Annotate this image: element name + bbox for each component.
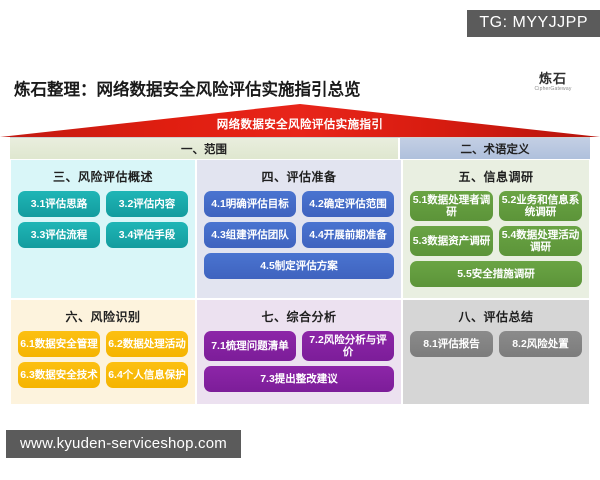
panel-title: 七、综合分析 (204, 308, 394, 325)
panel-overview: 三、风险评估概述3.1评估思路3.2评估内容3.3评估流程3.4评估手段 (10, 159, 196, 299)
panel-title: 六、风险识别 (18, 308, 188, 325)
red-chevron-banner: 网络数据安全风险评估实施指引 (0, 104, 600, 137)
chip-item[interactable]: 8.1评估报告 (410, 331, 493, 357)
section-header-terms: 二、术语定义 (400, 138, 590, 159)
chip-item[interactable]: 7.3提出整改建议 (204, 366, 394, 392)
chip-item[interactable]: 6.3数据安全技术 (18, 362, 100, 388)
brand-logo-en: CipherGateway (518, 87, 588, 92)
chip-item[interactable]: 4.4开展前期准备 (302, 222, 394, 248)
panel-title: 八、评估总结 (410, 308, 582, 325)
section-header-bars: 一、范围 二、术语定义 (10, 137, 590, 159)
chip-item[interactable]: 3.1评估思路 (18, 191, 100, 217)
panel-title: 三、风险评估概述 (18, 168, 188, 185)
panel-title: 五、信息调研 (410, 168, 582, 185)
chip-item[interactable]: 4.1明确评估目标 (204, 191, 296, 217)
brand-logo: 炼石 CipherGateway (518, 72, 588, 92)
chip-item[interactable]: 7.1梳理问题清单 (204, 331, 296, 361)
chip-item[interactable]: 5.1数据处理者调研 (410, 191, 493, 221)
chip-item[interactable]: 4.3组建评估团队 (204, 222, 296, 248)
chip-item[interactable]: 5.5安全措施调研 (410, 261, 582, 287)
panel-prep: 四、评估准备4.1明确评估目标4.2确定评估范围4.3组建评估团队4.4开展前期… (196, 159, 402, 299)
chip-item[interactable]: 6.2数据处理活动 (106, 331, 188, 357)
chip-item[interactable]: 8.2风险处置 (499, 331, 582, 357)
tg-handle-badge: TG: MYYJJPP (467, 10, 600, 37)
panel-chip-list: 7.1梳理问题清单7.2风险分析与评价7.3提出整改建议 (204, 331, 394, 392)
page-title: 炼石整理：网络数据安全风险评估实施指引总览 (14, 76, 361, 100)
chip-item[interactable]: 5.2业务和信息系统调研 (499, 191, 582, 221)
panel-analysis: 七、综合分析7.1梳理问题清单7.2风险分析与评价7.3提出整改建议 (196, 299, 402, 405)
panel-identify: 六、风险识别6.1数据安全管理6.2数据处理活动6.3数据安全技术6.4个人信息… (10, 299, 196, 405)
chip-item[interactable]: 5.4数据处理活动调研 (499, 226, 582, 256)
section-panel-grid: 三、风险评估概述3.1评估思路3.2评估内容3.3评估流程3.4评估手段四、评估… (10, 159, 590, 405)
panel-title: 四、评估准备 (204, 168, 394, 185)
brand-logo-cn: 炼石 (518, 72, 588, 86)
chip-item[interactable]: 4.5制定评估方案 (204, 253, 394, 279)
chip-item[interactable]: 6.1数据安全管理 (18, 331, 100, 357)
chip-item[interactable]: 6.4个人信息保护 (106, 362, 188, 388)
chip-item[interactable]: 4.2确定评估范围 (302, 191, 394, 217)
site-watermark: www.kyuden-serviceshop.com (6, 430, 241, 458)
chip-item[interactable]: 3.3评估流程 (18, 222, 100, 248)
panel-research: 五、信息调研5.1数据处理者调研5.2业务和信息系统调研5.3数据资产调研5.4… (402, 159, 590, 299)
panel-chip-list: 4.1明确评估目标4.2确定评估范围4.3组建评估团队4.4开展前期准备4.5制… (204, 191, 394, 279)
chip-item[interactable]: 3.2评估内容 (106, 191, 188, 217)
panel-chip-list: 3.1评估思路3.2评估内容3.3评估流程3.4评估手段 (18, 191, 188, 248)
section-header-scope: 一、范围 (10, 138, 400, 159)
chip-item[interactable]: 3.4评估手段 (106, 222, 188, 248)
panel-chip-list: 8.1评估报告8.2风险处置 (410, 331, 582, 357)
panel-summary: 八、评估总结8.1评估报告8.2风险处置 (402, 299, 590, 405)
panel-chip-list: 5.1数据处理者调研5.2业务和信息系统调研5.3数据资产调研5.4数据处理活动… (410, 191, 582, 287)
chip-item[interactable]: 5.3数据资产调研 (410, 226, 493, 256)
banner-label: 网络数据安全风险评估实施指引 (0, 116, 600, 132)
panel-chip-list: 6.1数据安全管理6.2数据处理活动6.3数据安全技术6.4个人信息保护 (18, 331, 188, 388)
chip-item[interactable]: 7.2风险分析与评价 (302, 331, 394, 361)
